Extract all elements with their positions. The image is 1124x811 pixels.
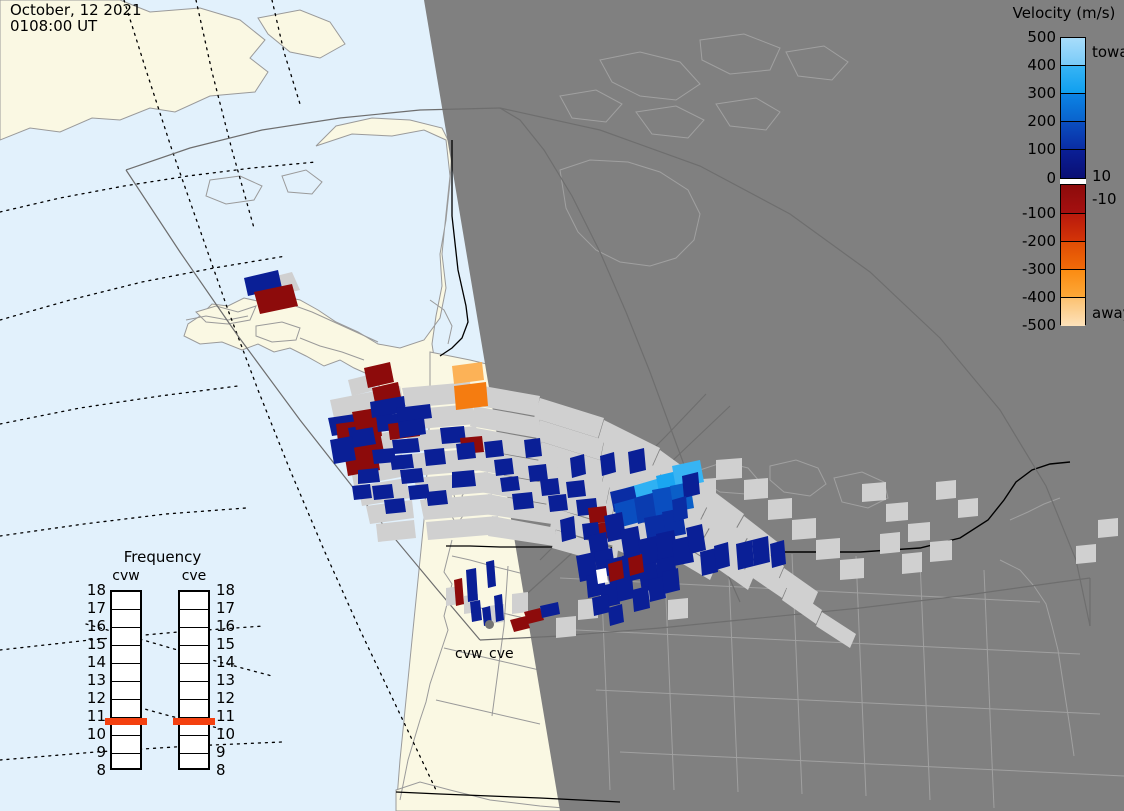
frequency-title: Frequency [90,548,235,566]
colorbar-segment [1061,298,1085,326]
colorbar-title: Velocity (m/s) [1004,4,1124,22]
gauge-value-marker-cvw [105,718,147,725]
gauge-cell [112,736,140,754]
colorbar-tick-label: 400 [1027,56,1056,74]
timestamp: October, 12 20210108:00 UT [10,2,142,34]
gauge-tick-label: 12 [216,689,235,707]
gauge-tick-label: 11 [216,707,235,725]
gauge-cell [180,610,208,628]
colorbar-away-label: away [1092,304,1124,322]
gauge-cell [180,664,208,682]
colorbar-zero-gap [1060,178,1086,185]
gauge-cell [112,664,140,682]
velocity-colorbar: Velocity (m/s) 5004003002001000-100-200-… [1008,4,1124,334]
radar-site-label-cvw: cvw [455,646,482,662]
colorbar-tick-label: 200 [1027,112,1056,130]
gauge-name-cve: cve [172,568,216,584]
gauge-name-cvw: cvw [104,568,148,584]
gauge-cell [112,628,140,646]
gauge-cell [180,682,208,700]
gauge-cell [112,646,140,664]
gauge-tick-label: 15 [216,635,235,653]
gauge-tick-label: 14 [84,653,106,671]
radar-site-label-cve: cve [489,646,514,662]
colorbar-segment [1061,94,1085,122]
gauge-tick-label: 9 [84,743,106,761]
gauge-cell [112,700,140,718]
colorbar-segment [1061,185,1085,213]
colorbar-segment [1061,66,1085,94]
colorbar-tick-label: -500 [1022,316,1056,334]
gauge-cell [112,592,140,610]
gauge-cell [180,754,208,772]
gauge-tick-label: 17 [84,599,106,617]
gauge-cell [180,736,208,754]
colorbar-tick-label: -400 [1022,288,1056,306]
gauge-tick-label: 18 [84,581,106,599]
colorbar-segment [1061,150,1085,178]
colorbar-tick-label: 300 [1027,84,1056,102]
colorbar-tick-label: -300 [1022,260,1056,278]
radar-map-figure: October, 12 20210108:00 UT Velocity (m/s… [0,0,1124,811]
timestamp-time: 0108:00 UT [10,17,97,35]
colorbar-lower-threshold: -10 [1092,190,1117,208]
gauge-tick-label: 13 [216,671,235,689]
gauge-tick-label: 16 [216,617,235,635]
colorbar-segment [1061,214,1085,242]
gauge-cell [112,682,140,700]
colorbar-segment [1061,122,1085,150]
colorbar-tick-label: -100 [1022,204,1056,222]
gauge-tick-label: 17 [216,599,235,617]
gauge-value-marker-cve [173,718,215,725]
gauge-tick-label: 18 [216,581,235,599]
gauge-cell [180,628,208,646]
frequency-gauge-cve [178,590,210,770]
colorbar-tick-label: 500 [1027,28,1056,46]
gauge-cell [180,646,208,664]
gauge-cell [180,592,208,610]
gauge-tick-label: 10 [84,725,106,743]
colorbar-upper-threshold: 10 [1092,167,1111,185]
frequency-legend: Frequency cvw18171615141312111098cve1817… [90,548,235,788]
gauge-tick-label: 8 [216,761,226,779]
colorbar-tick-label: 0 [1046,169,1056,187]
gauge-tick-label: 8 [84,761,106,779]
gauge-cell [112,754,140,772]
gauge-cell [180,700,208,718]
gauge-tick-label: 15 [84,635,106,653]
colorbar-segment [1061,38,1085,66]
colorbar-segment [1061,242,1085,270]
gauge-tick-label: 14 [216,653,235,671]
gauge-tick-label: 12 [84,689,106,707]
gauge-tick-label: 11 [84,707,106,725]
colorbar-tick-label: -200 [1022,232,1056,250]
colorbar-toward-label: toward [1092,43,1124,61]
gauge-tick-label: 9 [216,743,226,761]
gauge-cell [112,610,140,628]
colorbar-tick-label: 100 [1027,140,1056,158]
radar-site-marker [485,620,494,629]
gauge-tick-label: 16 [84,617,106,635]
frequency-gauge-cvw [110,590,142,770]
colorbar-segment [1061,270,1085,298]
gauge-tick-label: 10 [216,725,235,743]
gauge-tick-label: 13 [84,671,106,689]
